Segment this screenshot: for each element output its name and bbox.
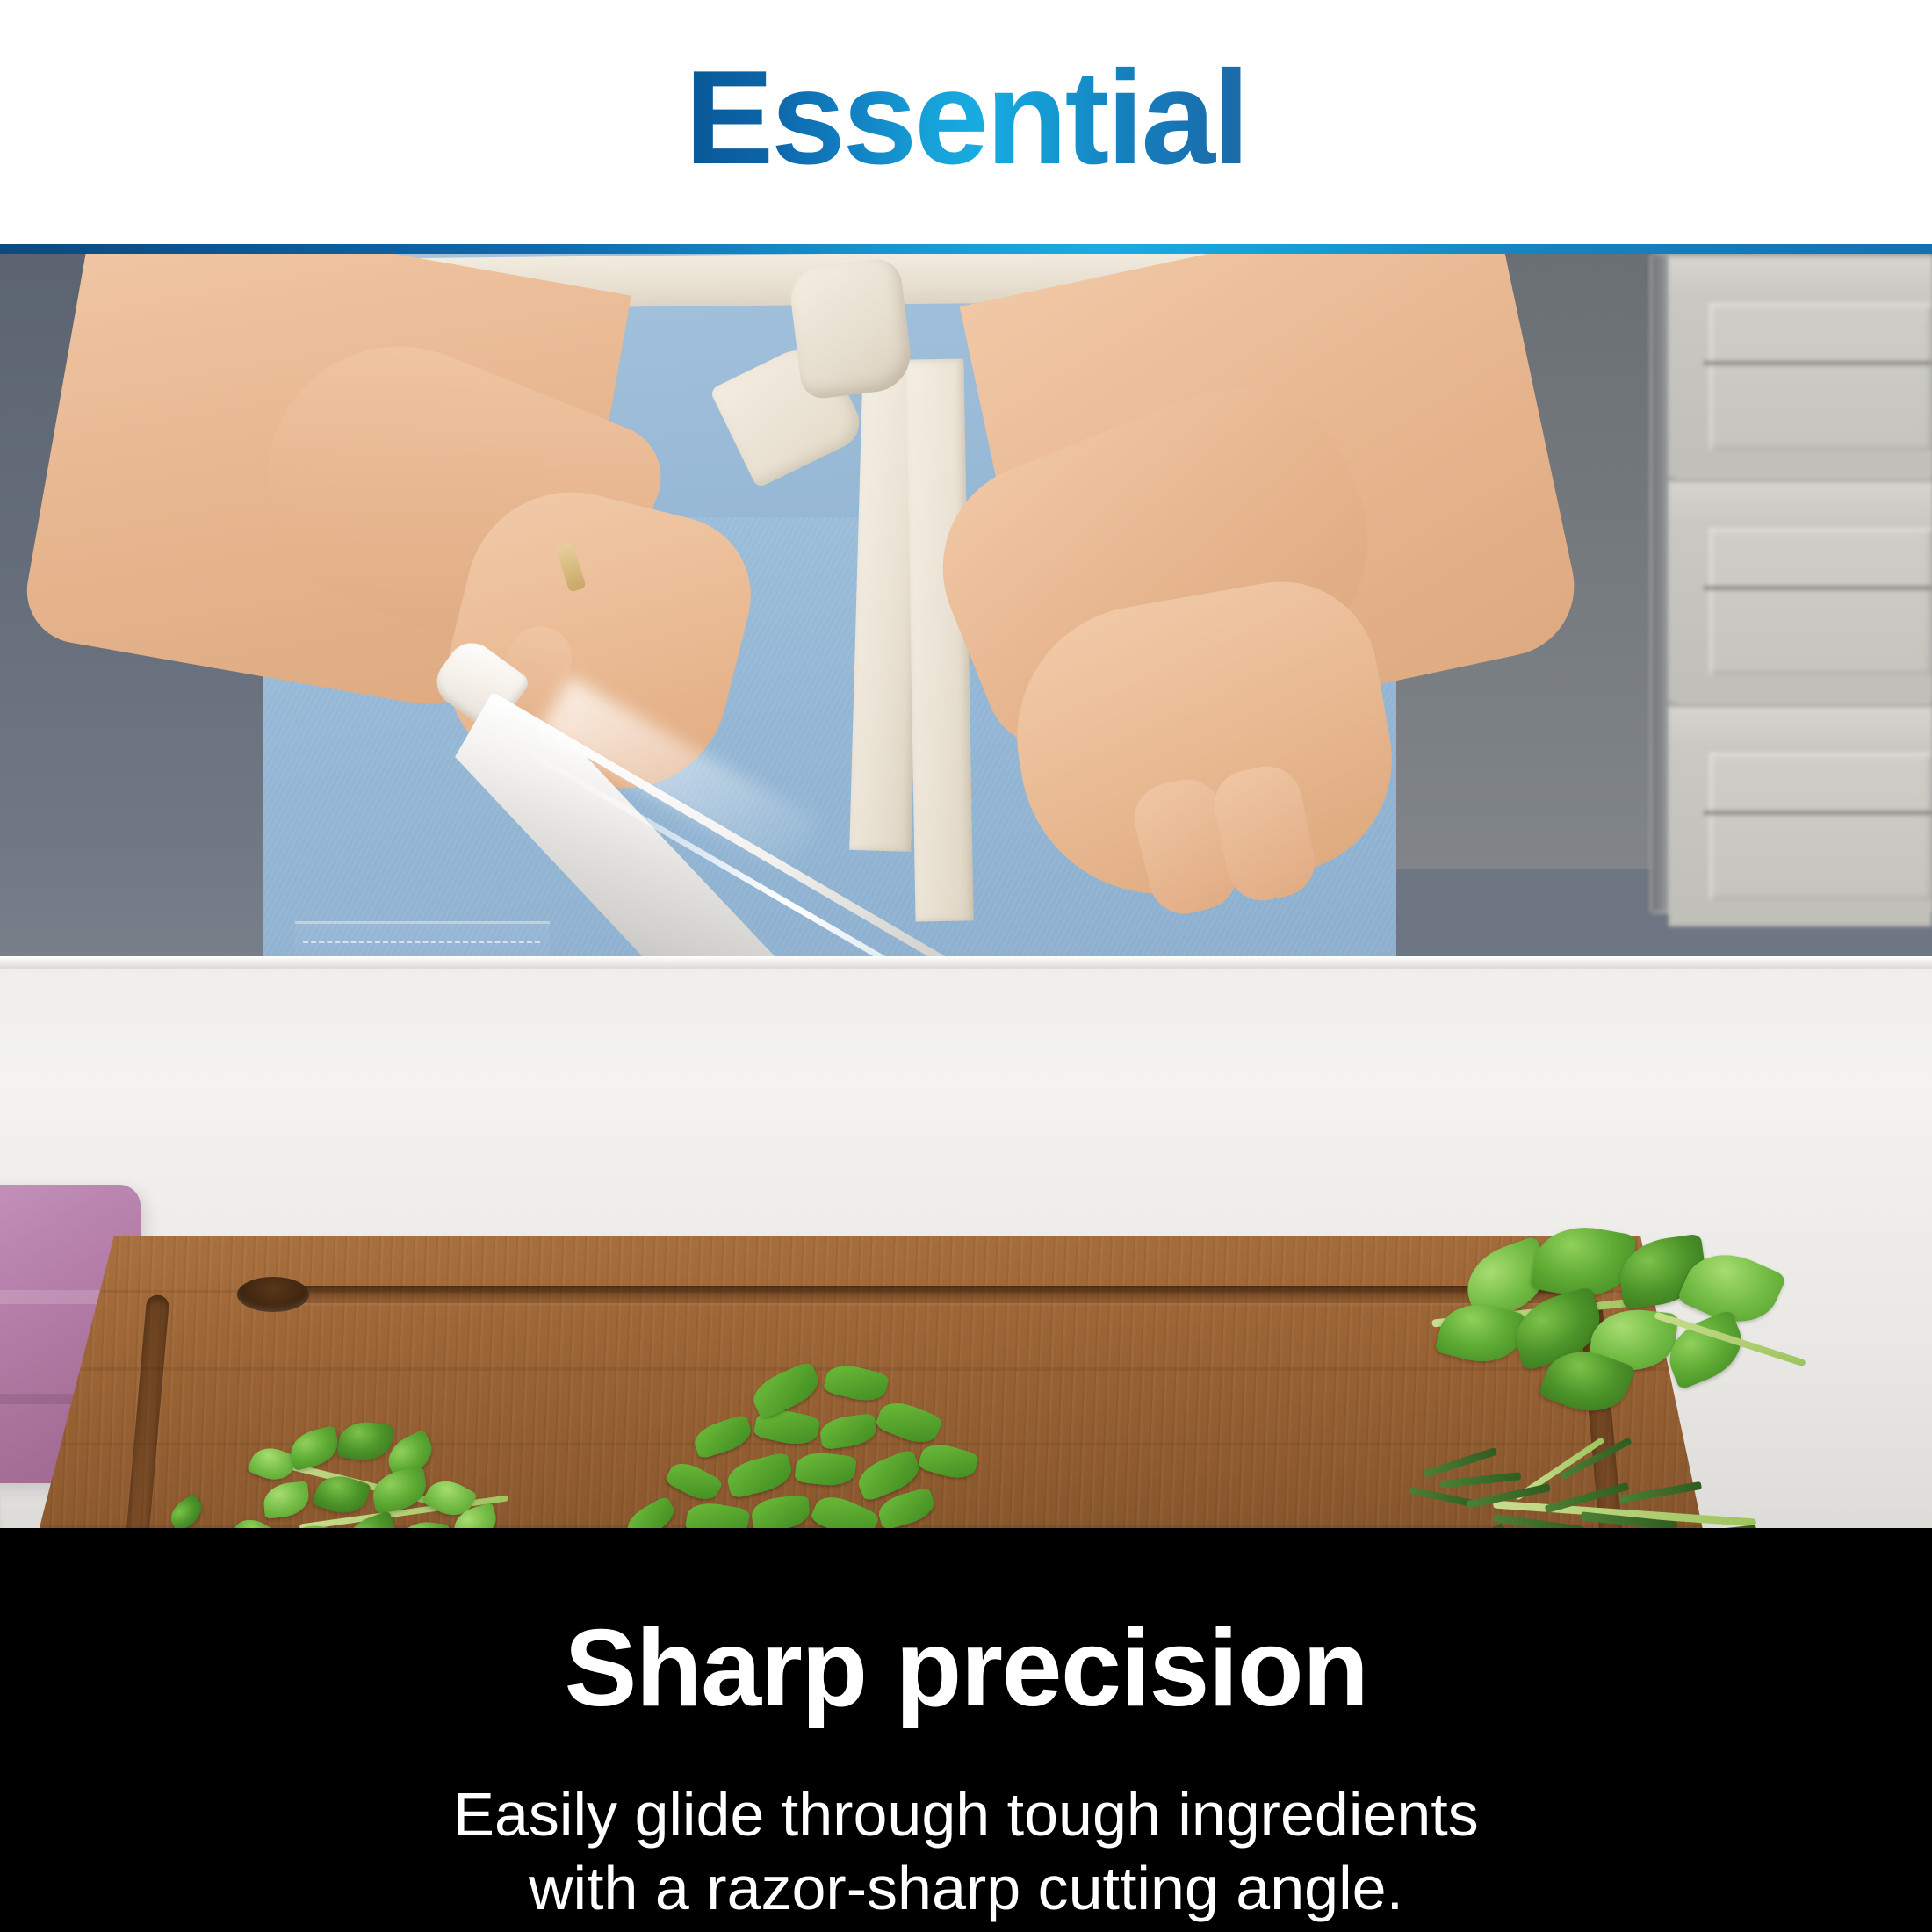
product-feature-card: Essential	[0, 0, 1932, 1932]
apron-tie-knot	[787, 256, 914, 400]
brand-header: Essential	[0, 0, 1932, 244]
cabinet-drawer-mid	[1669, 479, 1932, 702]
caption-subtitle: Easily glide through tough ingredients w…	[453, 1777, 1478, 1925]
caption-headline: Sharp precision	[565, 1614, 1368, 1723]
caption-subtitle-line-2: with a razor-sharp cutting angle.	[453, 1851, 1478, 1925]
header-divider-rule	[0, 244, 1932, 254]
caption-panel: Sharp precision Easily glide through tou…	[0, 1528, 1932, 1932]
juice-groove-top	[263, 1286, 1581, 1303]
product-lifestyle-photo	[0, 254, 1932, 1528]
cabinet-drawer-bottom	[1669, 703, 1932, 926]
caption-subtitle-line-1: Easily glide through tough ingredients	[453, 1777, 1478, 1851]
towel-fold-upper	[0, 1290, 114, 1304]
cutting-board-hanging-hole	[237, 1277, 309, 1312]
cabinet-drawer-top	[1669, 254, 1932, 477]
apron-pocket-stitching	[303, 941, 540, 943]
brand-wordmark: Essential	[680, 51, 1252, 193]
counter-front-edge	[0, 956, 1932, 969]
